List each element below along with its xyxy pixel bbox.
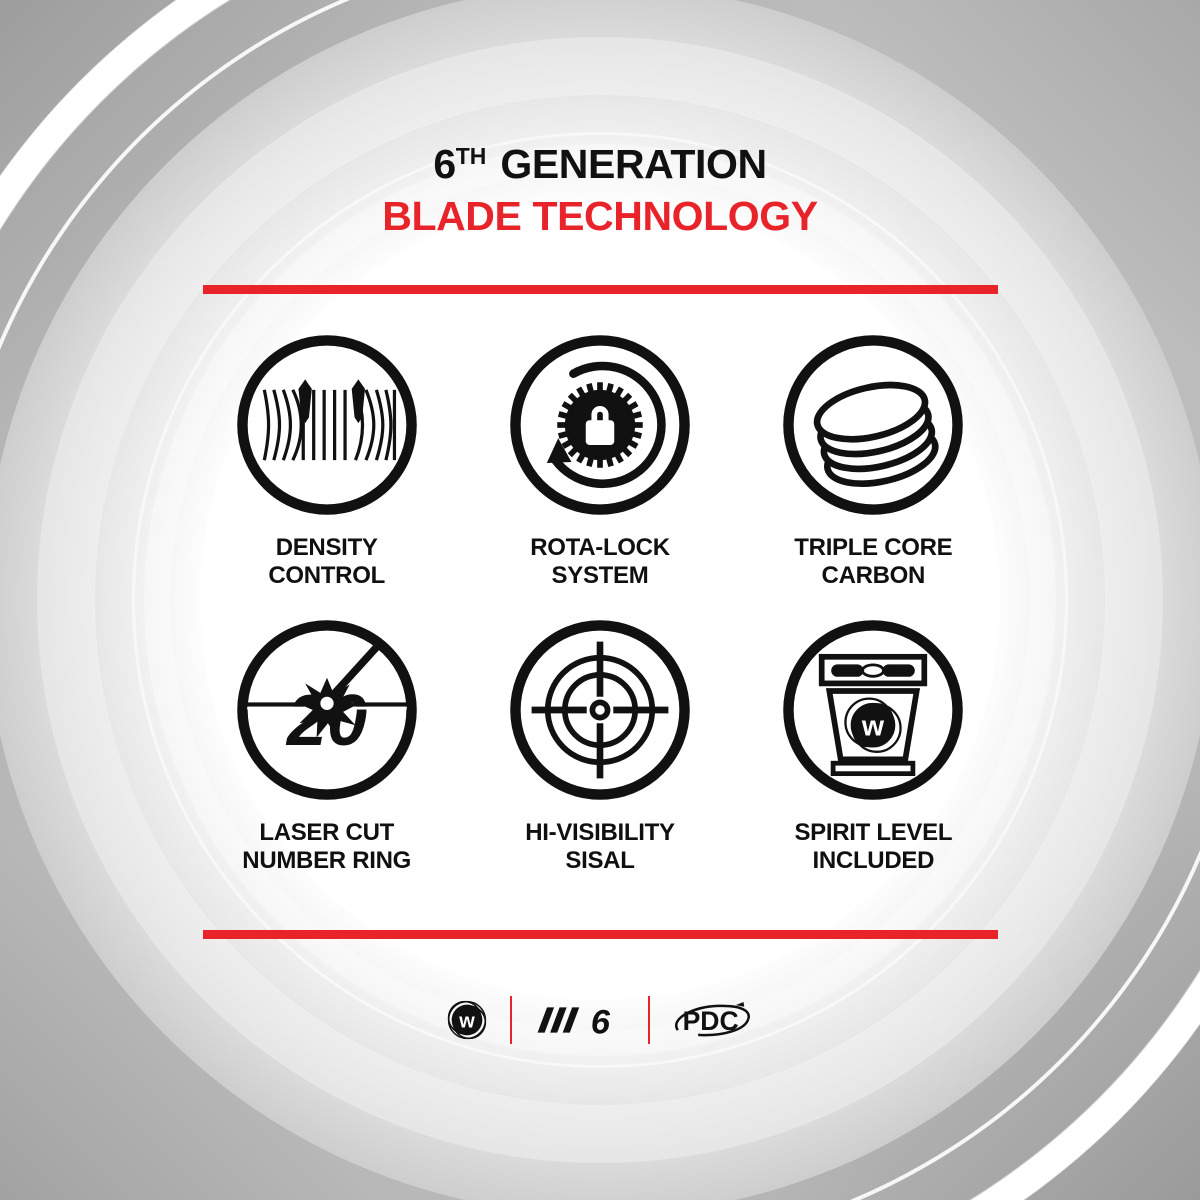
- promo-graphic: 6TH GENERATION BLADE TECHNOLOGY: [0, 0, 1200, 1200]
- title-ordinal-suffix: TH: [456, 143, 487, 169]
- feature-item-spirit-level-included: w SPIRIT LEVEL INCLUDED: [748, 615, 998, 900]
- feature-label: DENSITY CONTROL: [268, 534, 385, 591]
- footer-separator: [510, 996, 512, 1044]
- feature-item-rota-lock-system: ROTA-LOCK SYSTEM: [475, 330, 725, 615]
- footer-separator: [648, 996, 650, 1044]
- winmau-w-logo: w: [444, 997, 490, 1043]
- pdc-logo-text: PDC: [683, 1006, 739, 1036]
- feature-grid: DENSITY CONTROL: [190, 330, 1010, 900]
- page-subtitle: BLADE TECHNOLOGY: [0, 194, 1200, 238]
- feature-item-hi-visibility-sisal: HI-VISIBILITY SISAL: [475, 615, 725, 900]
- winmau-logo-letter: w: [458, 1011, 475, 1033]
- stacked-discs-icon: [778, 330, 968, 520]
- page-title: 6TH GENERATION: [0, 142, 1200, 186]
- feature-item-density-control: DENSITY CONTROL: [202, 330, 452, 615]
- crosshair-target-icon: [505, 615, 695, 805]
- feature-label: TRIPLE CORE CARBON: [794, 534, 952, 591]
- feature-item-laser-cut-number-ring: 20 LASER CUT NUMBER RING: [202, 615, 452, 900]
- feature-label: LASER CUT NUMBER RING: [242, 819, 411, 876]
- feature-label: SPIRIT LEVEL INCLUDED: [794, 819, 952, 876]
- title-generation-word: GENERATION: [489, 141, 766, 187]
- feature-item-triple-core-carbon: TRIPLE CORE CARBON: [748, 330, 998, 615]
- laser-cut-20-icon: 20: [232, 615, 422, 805]
- blade-logo-number: 6: [591, 1003, 611, 1041]
- title-number: 6: [433, 141, 455, 187]
- spirit-level-icon: w: [778, 615, 968, 805]
- divider-bottom: [203, 930, 998, 939]
- rota-lock-gear-padlock-icon: [505, 330, 695, 520]
- feature-label: ROTA-LOCK SYSTEM: [530, 534, 670, 591]
- feature-label: HI-VISIBILITY SISAL: [525, 819, 674, 876]
- footer-logo-bar: w 6 PDC: [0, 985, 1200, 1055]
- divider-top: [203, 285, 998, 294]
- title-block: 6TH GENERATION BLADE TECHNOLOGY: [0, 142, 1200, 239]
- density-lines-icon: [232, 330, 422, 520]
- pdc-logo: PDC: [670, 995, 756, 1045]
- svg-text:w: w: [861, 711, 885, 743]
- blade-6-logo: 6: [532, 998, 628, 1042]
